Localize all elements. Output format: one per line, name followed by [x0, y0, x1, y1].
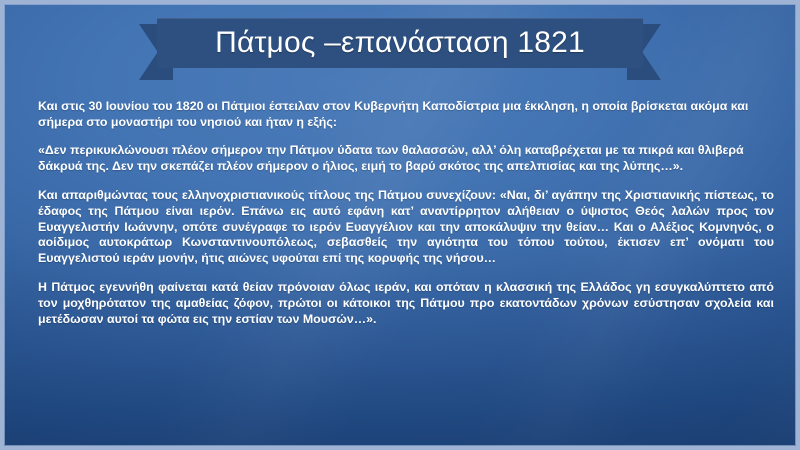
- title-ribbon: Πάτμος –επανάσταση 1821: [139, 18, 661, 80]
- paragraph-quote-2: Και απαριθμώντας τους ελληνοχριστιανικού…: [38, 188, 774, 266]
- paragraph-quote-3: Η Πάτμος εγεννήθη φαίνεται κατά θείαν πρ…: [38, 280, 774, 327]
- paragraph-quote-1: «Δεν περικυκλώνουσι πλέον σήμερον την Πά…: [38, 143, 774, 174]
- paragraph-intro: Και στις 30 Ιουνίου του 1820 οι Πάτμιοι …: [38, 99, 774, 130]
- slide-title: Πάτμος –επανάσταση 1821: [157, 18, 643, 68]
- presentation-slide: Πάτμος –επανάσταση 1821 Και στις 30 Ιουν…: [0, 0, 800, 450]
- slide-body: Και στις 30 Ιουνίου του 1820 οι Πάτμιοι …: [38, 99, 774, 327]
